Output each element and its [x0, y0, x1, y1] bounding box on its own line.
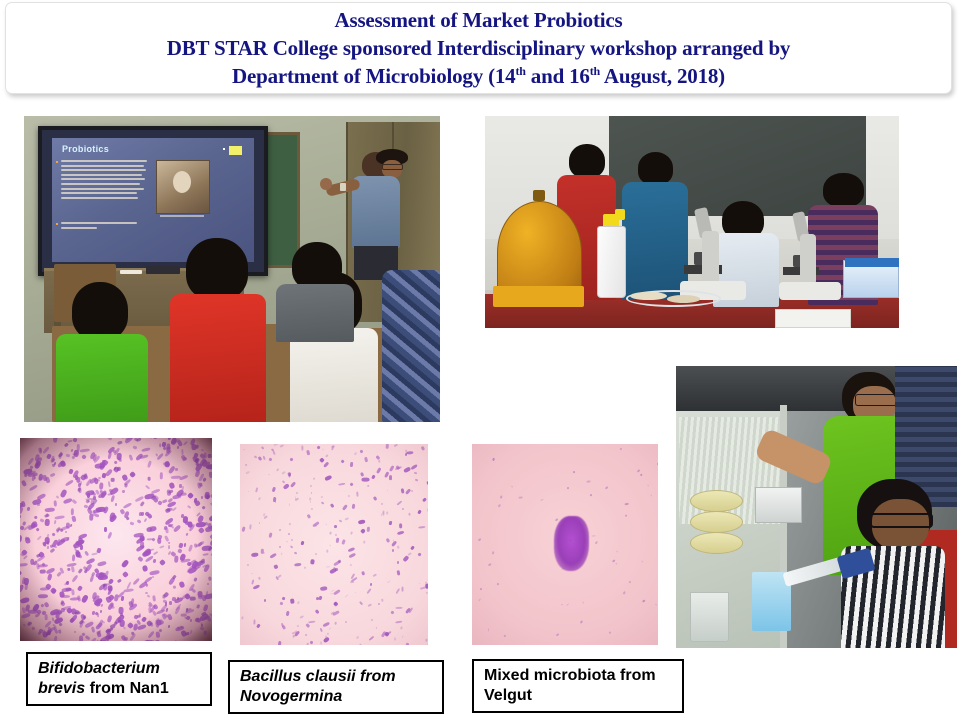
caption-mixed: Mixed microbiota from Velgut: [472, 659, 684, 713]
caption-bacillus: Bacillus clausii from Novogermina: [228, 660, 444, 714]
bench-label-card: [775, 309, 852, 328]
student-grey: [274, 242, 354, 332]
cocci-cluster: [554, 516, 589, 570]
title-line-1: Assessment of Market Probiotics: [335, 7, 623, 34]
micrograph-cells: [472, 444, 658, 645]
desiccator-base: [493, 286, 584, 307]
caption-3-source: Mixed microbiota from Velgut: [484, 667, 656, 704]
wash-bottle: [597, 226, 626, 298]
title-card: Assessment of Market Probiotics DBT STAR…: [5, 2, 952, 94]
microscope-left: [680, 211, 746, 300]
caption-1-source: from Nan1: [90, 680, 169, 697]
lab-photo: [485, 116, 899, 328]
title-line-3-suffix: August, 2018): [600, 64, 725, 88]
micrograph-bacillus: [240, 444, 428, 645]
agar-plates-stack: [690, 490, 741, 552]
microscope-right: [779, 216, 841, 301]
caption-bifidobacterium: Bifidobacterium brevis from Nan1: [26, 652, 212, 706]
caption-3-text: Mixed microbiota from Velgut: [484, 666, 674, 706]
title-line-3-mid: and 16: [526, 64, 590, 88]
title-line-3-prefix: Department of Microbiology (14: [232, 64, 515, 88]
title-superscript-1: th: [515, 64, 525, 78]
hood-photo: [676, 366, 957, 648]
title-line-2: DBT STAR College sponsored Interdiscipli…: [167, 34, 791, 62]
student-blue-polo: [622, 152, 688, 300]
micrograph-mixed: [472, 444, 658, 645]
slide-canvas: Assessment of Market Probiotics DBT STAR…: [0, 0, 960, 720]
glass-beaker: [690, 592, 729, 642]
slide-image-caption: [160, 215, 204, 217]
micrograph-cells: [240, 444, 428, 645]
caption-1-text: Bifidobacterium brevis from Nan1: [38, 659, 202, 699]
petri-dish: [667, 295, 700, 303]
projected-slide-title: Probiotics: [62, 144, 109, 154]
tube-rack: [755, 487, 802, 523]
slide-portrait-image: [156, 160, 210, 214]
caption-2-text: Bacillus clausii from Novogermina: [240, 667, 434, 707]
slide-color-swatch: [229, 146, 242, 155]
lecture-photo: Probiotics: [24, 116, 440, 422]
title-line-3: Department of Microbiology (14th and 16t…: [232, 62, 725, 90]
student-floral: [382, 270, 440, 422]
student-green: [58, 282, 144, 422]
speaker-person: [346, 152, 402, 278]
title-superscript-2: th: [590, 64, 600, 78]
desk-paper: [120, 270, 142, 274]
slide-body-text: [61, 160, 147, 214]
blue-box-lid: [845, 258, 899, 266]
student-red: [174, 238, 260, 422]
micrograph-bifidobacterium: [20, 438, 212, 641]
desiccator-knob: [533, 190, 545, 201]
slide-body-text-2: [61, 222, 137, 231]
caption-2-species: Bacillus clausii from Novogermina: [240, 668, 396, 705]
